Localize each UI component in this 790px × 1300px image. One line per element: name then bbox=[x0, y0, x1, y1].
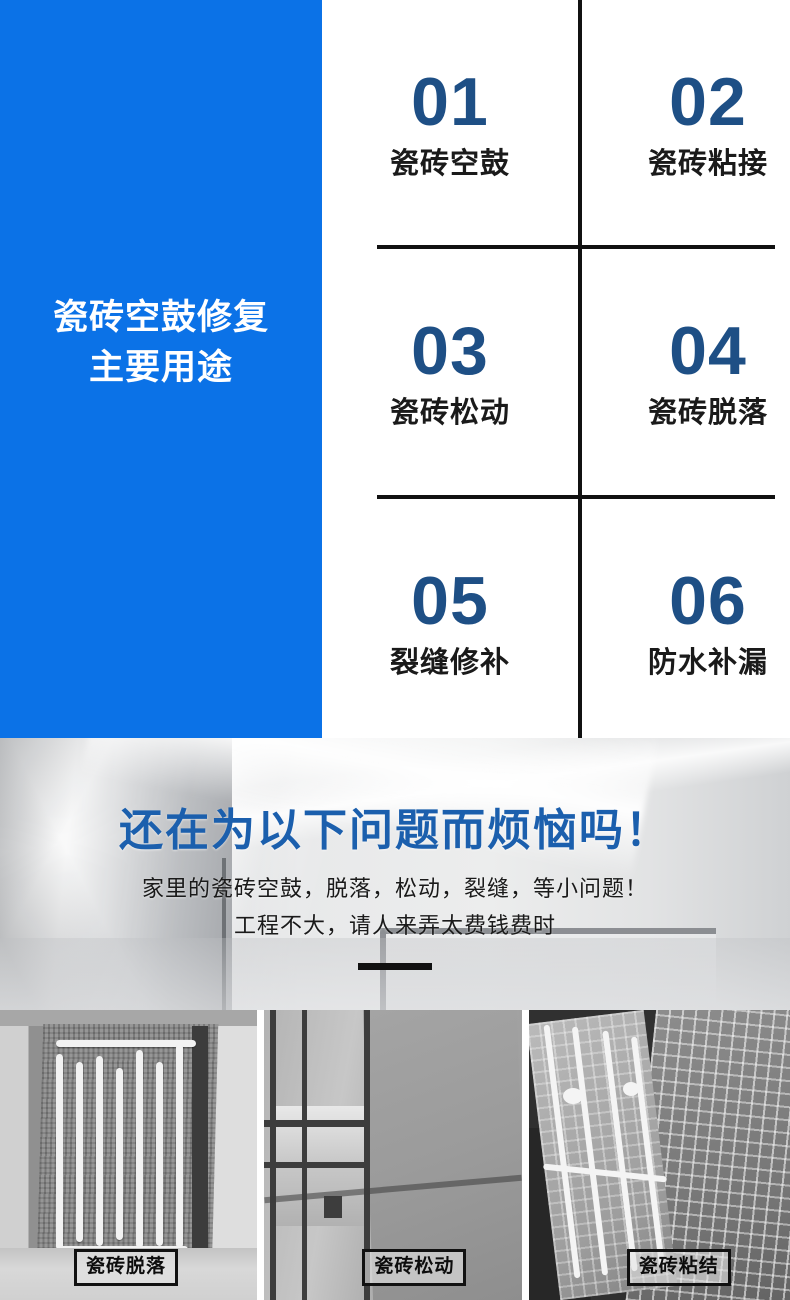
usage-panel-title-line1: 瓷砖空鼓修复 bbox=[53, 298, 269, 337]
usage-item-label: 瓷砖松动 bbox=[390, 396, 510, 430]
usage-item-02[interactable]: 02 瓷砖粘接 bbox=[580, 0, 790, 246]
usage-item-label: 瓷砖空鼓 bbox=[390, 147, 510, 181]
usage-item-number: 03 bbox=[411, 314, 489, 388]
banner-content: 还在为以下问题而烦恼吗！ 家里的瓷砖空鼓，脱落，松动，裂缝，等小问题！ 工程不大… bbox=[0, 738, 790, 1010]
photo-card-tile-loose[interactable]: 瓷砖松动 bbox=[264, 1010, 521, 1300]
usage-item-06[interactable]: 06 防水补漏 bbox=[580, 499, 790, 738]
adhesive-ribbon bbox=[56, 1040, 196, 1047]
usage-item-label: 瓷砖脱落 bbox=[648, 396, 768, 430]
usage-grid: 01 瓷砖空鼓 02 瓷砖粘接 03 瓷砖松动 04 瓷砖脱落 05 裂缝修补 … bbox=[322, 0, 790, 738]
photo-card-tile-bonding[interactable]: 瓷砖粘结 bbox=[529, 1010, 790, 1300]
photo-window-mullion bbox=[264, 1162, 370, 1168]
photo-card-tile-falling-off[interactable]: 瓷砖脱落 bbox=[0, 1010, 257, 1300]
adhesive-blob bbox=[563, 1088, 583, 1104]
usage-panel-title: 瓷砖空鼓修复 主要用途 bbox=[0, 293, 322, 393]
usage-item-01[interactable]: 01 瓷砖空鼓 bbox=[322, 0, 578, 246]
adhesive-ribbon bbox=[96, 1056, 103, 1246]
usage-item-label: 裂缝修补 bbox=[390, 646, 510, 680]
usage-item-label: 防水补漏 bbox=[648, 646, 768, 680]
adhesive-ribbon bbox=[56, 1054, 63, 1250]
usage-item-04[interactable]: 04 瓷砖脱落 bbox=[580, 249, 790, 495]
usage-item-label: 瓷砖粘接 bbox=[648, 147, 768, 181]
photo-label: 瓷砖粘结 bbox=[627, 1249, 731, 1286]
photo-window-mullion bbox=[270, 1010, 276, 1300]
banner-subtitle: 家里的瓷砖空鼓，脱落，松动，裂缝，等小问题！ 工程不大，请人来弄太费钱费时 bbox=[142, 870, 648, 944]
photo-tile-bed bbox=[37, 1024, 218, 1269]
adhesive-ribbon bbox=[176, 1044, 183, 1248]
banner-underline-rule bbox=[358, 963, 432, 970]
banner-subtitle-line1: 家里的瓷砖空鼓，脱落，松动，裂缝，等小问题！ bbox=[142, 876, 648, 901]
adhesive-blob bbox=[623, 1082, 639, 1096]
banner-headline: 还在为以下问题而烦恼吗！ bbox=[119, 806, 671, 856]
photo-window-mullion bbox=[302, 1010, 307, 1300]
usage-item-number: 06 bbox=[669, 564, 747, 638]
adhesive-ribbon bbox=[136, 1050, 143, 1248]
product-detail-page: 瓷砖空鼓修复 主要用途 01 瓷砖空鼓 02 瓷砖粘接 03 瓷砖松动 04 bbox=[0, 0, 790, 1300]
usage-section: 瓷砖空鼓修复 主要用途 01 瓷砖空鼓 02 瓷砖粘接 03 瓷砖松动 04 bbox=[0, 0, 790, 738]
usage-item-05[interactable]: 05 裂缝修补 bbox=[322, 499, 578, 738]
photo-label: 瓷砖松动 bbox=[362, 1249, 466, 1286]
photo-wall-fixture bbox=[324, 1196, 342, 1218]
adhesive-ribbon bbox=[76, 1062, 83, 1242]
usage-panel-title-line2: 主要用途 bbox=[0, 343, 322, 393]
banner-subtitle-line2: 工程不大，请人来弄太费钱费时 bbox=[142, 907, 648, 944]
photo-window-mullion bbox=[264, 1120, 370, 1127]
usage-item-number: 04 bbox=[669, 314, 747, 388]
usage-item-03[interactable]: 03 瓷砖松动 bbox=[322, 249, 578, 495]
usage-item-number: 01 bbox=[411, 65, 489, 139]
problem-banner: 还在为以下问题而烦恼吗！ 家里的瓷砖空鼓，脱落，松动，裂缝，等小问题！ 工程不大… bbox=[0, 738, 790, 1010]
usage-blue-panel: 瓷砖空鼓修复 主要用途 bbox=[0, 0, 322, 738]
photo-label: 瓷砖脱落 bbox=[74, 1249, 178, 1286]
photo-dark-gap bbox=[192, 1026, 208, 1256]
adhesive-ribbon bbox=[116, 1068, 123, 1240]
usage-item-number: 05 bbox=[411, 564, 489, 638]
problem-photo-strip: 瓷砖脱落 瓷砖松动 瓷砖粘结 bbox=[0, 1010, 790, 1300]
adhesive-ribbon bbox=[156, 1062, 163, 1246]
usage-item-number: 02 bbox=[669, 65, 747, 139]
